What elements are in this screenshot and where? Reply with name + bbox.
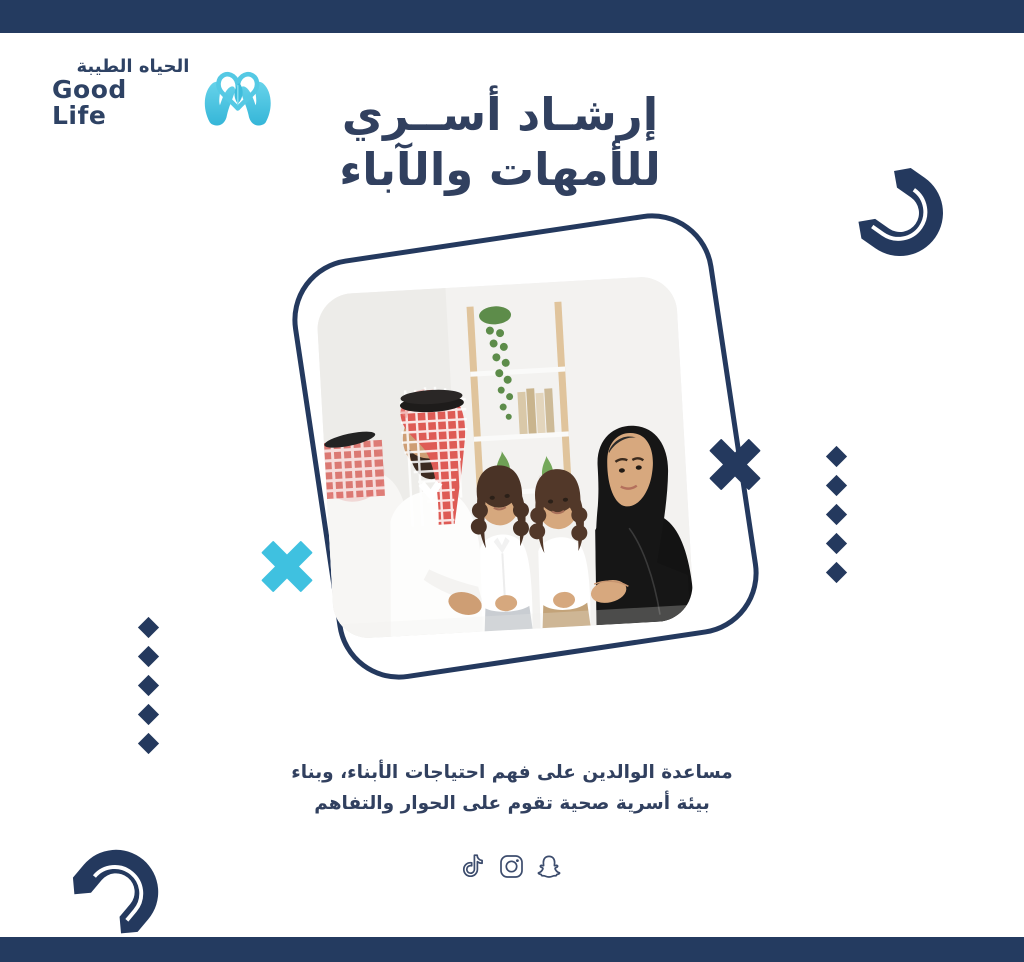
family-photo bbox=[316, 275, 695, 640]
diamond-icon bbox=[826, 504, 847, 525]
diamond-icon bbox=[138, 675, 159, 696]
tiktok-icon[interactable] bbox=[462, 853, 486, 879]
top-bar bbox=[0, 0, 1024, 33]
brand-logo[interactable]: الحياه الطيبة Good Life bbox=[52, 55, 277, 137]
subtitle-line-1: مساعدة الوالدين على فهم احتياجات الأبناء… bbox=[262, 758, 762, 789]
arc-icon-bottom-left bbox=[62, 838, 170, 946]
diamond-column-left bbox=[141, 620, 156, 751]
diamond-icon bbox=[826, 475, 847, 496]
instagram-icon[interactable] bbox=[499, 854, 524, 879]
page-title: إرشـاد أســري للأمهات والآباء bbox=[300, 88, 700, 198]
snapchat-glyph bbox=[536, 854, 562, 879]
media-collage bbox=[255, 200, 785, 760]
diamond-icon bbox=[138, 617, 159, 638]
hands-heart-leaf-icon bbox=[199, 57, 277, 135]
social-links bbox=[462, 850, 562, 882]
page-title-line-1: إرشـاد أســري bbox=[300, 88, 700, 143]
logo-text: الحياه الطيبة Good Life bbox=[52, 58, 189, 133]
cross-icon-top-right bbox=[707, 436, 763, 492]
arc-shape bbox=[62, 838, 170, 946]
diamond-icon bbox=[138, 646, 159, 667]
snapchat-icon[interactable] bbox=[536, 854, 562, 879]
cross-icon-bottom-left bbox=[259, 538, 315, 594]
logo-english-name: Good Life bbox=[52, 77, 189, 130]
family-photo-illustration bbox=[316, 275, 695, 640]
diamond-icon bbox=[826, 446, 847, 467]
diamond-column-right bbox=[829, 449, 844, 580]
diamond-icon bbox=[826, 533, 847, 554]
poster-canvas: الحياه الطيبة Good Life إرشـاد أســري لل… bbox=[0, 0, 1024, 962]
diamond-icon bbox=[138, 733, 159, 754]
subtitle-line-2: بيئة أسرية صحية تقوم على الحوار والتفاهم bbox=[262, 789, 762, 820]
diamond-icon bbox=[138, 704, 159, 725]
tiktok-glyph bbox=[462, 853, 486, 879]
arc-shape bbox=[845, 158, 955, 268]
arc-icon-top-right bbox=[845, 158, 955, 268]
diamond-icon bbox=[826, 562, 847, 583]
page-title-line-2: للأمهات والآباء bbox=[300, 143, 700, 198]
subtitle: مساعدة الوالدين على فهم احتياجات الأبناء… bbox=[262, 758, 762, 819]
instagram-glyph bbox=[499, 854, 524, 879]
